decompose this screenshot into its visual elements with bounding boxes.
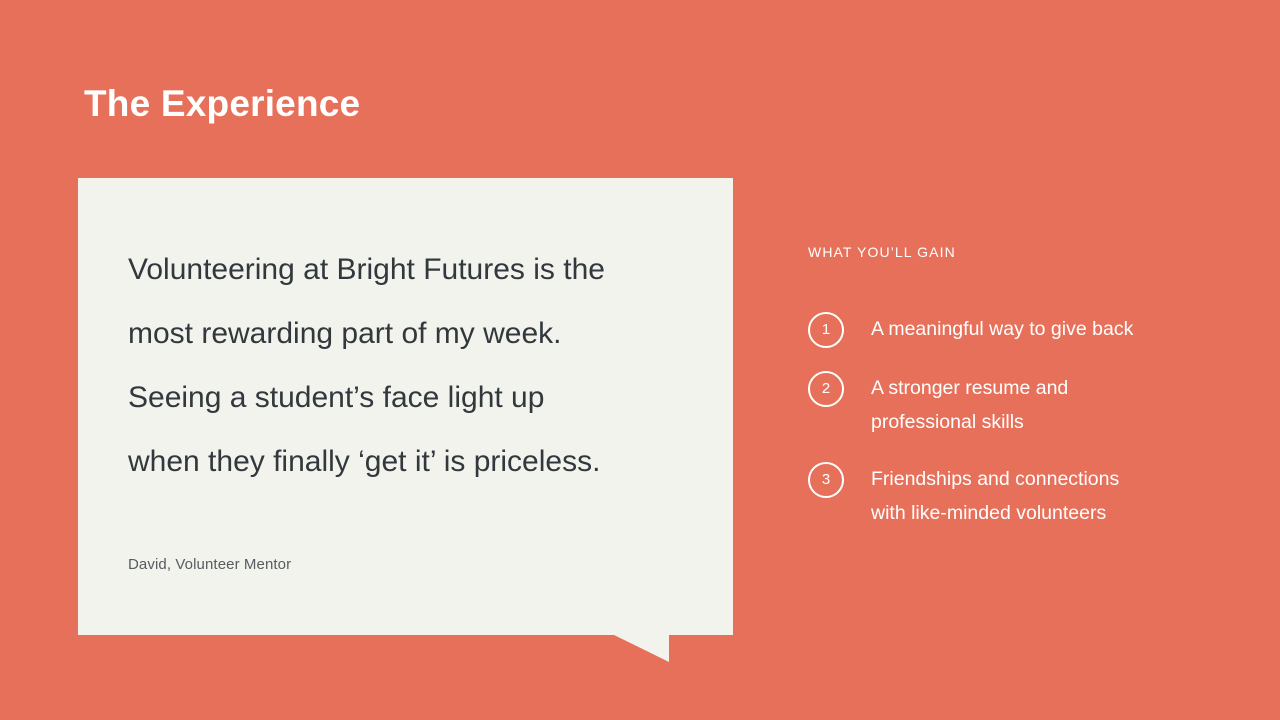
quote-card: Volunteering at Bright Futures is the mo… [78,178,733,635]
list-item-label: A stronger resume and professional skill… [871,370,1068,439]
list-item-line: professional skills [871,405,1068,439]
quote-line: most rewarding part of my week. [128,302,703,366]
quote-line: when they finally ‘get it’ is priceless. [128,430,703,494]
quote-line: Seeing a student’s face light up [128,366,703,430]
quote-text: Volunteering at Bright Futures is the mo… [128,238,703,494]
gain-list: 1 A meaningful way to give back 2 A stro… [808,311,1208,552]
page-title: The Experience [84,84,360,125]
list-item-line: A meaningful way to give back [871,312,1133,346]
list-item-label: A meaningful way to give back [871,311,1133,346]
gain-section: WHAT YOU’LL GAIN 1 A meaningful way to g… [808,244,1208,260]
list-item-line: with like-minded volunteers [871,496,1119,530]
numbered-circle-badge: 3 [808,462,844,498]
list-item[interactable]: 3 Friendships and connections with like-… [808,461,1208,530]
quote-attribution: David, Volunteer Mentor [128,556,291,573]
list-item-label: Friendships and connections with like-mi… [871,461,1119,530]
list-item[interactable]: 1 A meaningful way to give back [808,311,1208,348]
quote-line: Volunteering at Bright Futures is the [128,238,703,302]
speech-bubble-tail-icon [612,634,669,662]
numbered-circle-badge: 2 [808,371,844,407]
gain-section-heading: WHAT YOU’LL GAIN [808,244,1208,260]
slide-canvas: The Experience Volunteering at Bright Fu… [0,0,1280,720]
list-item-line: Friendships and connections [871,462,1119,496]
list-item-line: A stronger resume and [871,371,1068,405]
numbered-circle-badge: 1 [808,312,844,348]
list-item[interactable]: 2 A stronger resume and professional ski… [808,370,1208,439]
